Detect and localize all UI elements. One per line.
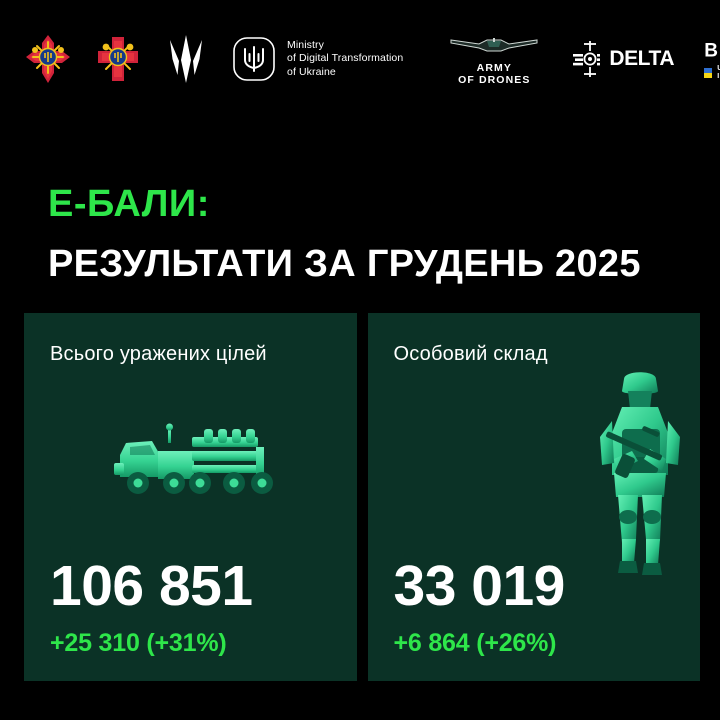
- army-of-drones-text: ARMY OF DRONES: [458, 62, 530, 86]
- unmanned-systems-forces-trident-icon: [166, 34, 206, 84]
- brave-text: BRAVE: [704, 41, 720, 62]
- general-staff-emblem-icon: [24, 33, 72, 85]
- stat-cards-row: Всього уражених цілей: [24, 313, 700, 681]
- ministry-line-2: of Digital Transformation: [287, 52, 403, 66]
- card-delta-total-targets: +25 310 (+31%): [50, 629, 227, 657]
- army-of-drones-logo: ARMY OF DRONES: [449, 33, 539, 86]
- brave1-wordmark: BRAVE1: [704, 36, 720, 61]
- aod-line-1: ARMY: [458, 62, 530, 74]
- ministry-line-1: Ministry: [287, 39, 403, 53]
- page-title-block: Е-БАЛИ: РЕЗУЛЬТАТИ ЗА ГРУДЕНЬ 2025: [48, 182, 641, 286]
- infographic-page: Ministry of Digital Transformation of Uk…: [0, 0, 720, 720]
- stat-card-total-targets: Всього уражених цілей: [24, 313, 357, 681]
- delta-crosshair-icon: [573, 40, 607, 78]
- page-title: РЕЗУЛЬТАТИ ЗА ГРУДЕНЬ 2025: [48, 242, 641, 286]
- card-title-total-targets: Всього уражених цілей: [50, 341, 267, 367]
- card-title-personnel: Особовий склад: [394, 341, 548, 367]
- header-logo-strip: Ministry of Digital Transformation of Uk…: [0, 0, 720, 118]
- aod-line-2: OF DRONES: [458, 74, 530, 86]
- stat-card-personnel: Особовий склад: [368, 313, 701, 681]
- delta-logo: DELTA: [573, 40, 674, 78]
- card-value-personnel: 33 019: [394, 558, 565, 615]
- delta-wordmark: DELTA: [609, 47, 674, 71]
- drone-icon: [449, 33, 539, 59]
- brave1-logo: BRAVE1 UKRAINIAN DEFENSE INNOVATIONS: [704, 36, 720, 81]
- card-delta-personnel: +6 864 (+26%): [394, 629, 557, 657]
- ukraine-flag-icon: [704, 68, 712, 78]
- ministry-of-defence-emblem-icon: [94, 33, 142, 85]
- soldier-illustration: [588, 371, 692, 584]
- ministry-logo-text: Ministry of Digital Transformation of Uk…: [287, 39, 403, 80]
- ministry-line-3: of Ukraine: [287, 66, 403, 80]
- card-value-total-targets: 106 851: [50, 558, 253, 615]
- title-kicker: Е-БАЛИ:: [48, 182, 641, 226]
- military-truck-launcher-illustration: [112, 411, 292, 526]
- ministry-trident-icon: [232, 34, 276, 84]
- ministry-of-digital-transformation-logo: Ministry of Digital Transformation of Uk…: [232, 34, 403, 84]
